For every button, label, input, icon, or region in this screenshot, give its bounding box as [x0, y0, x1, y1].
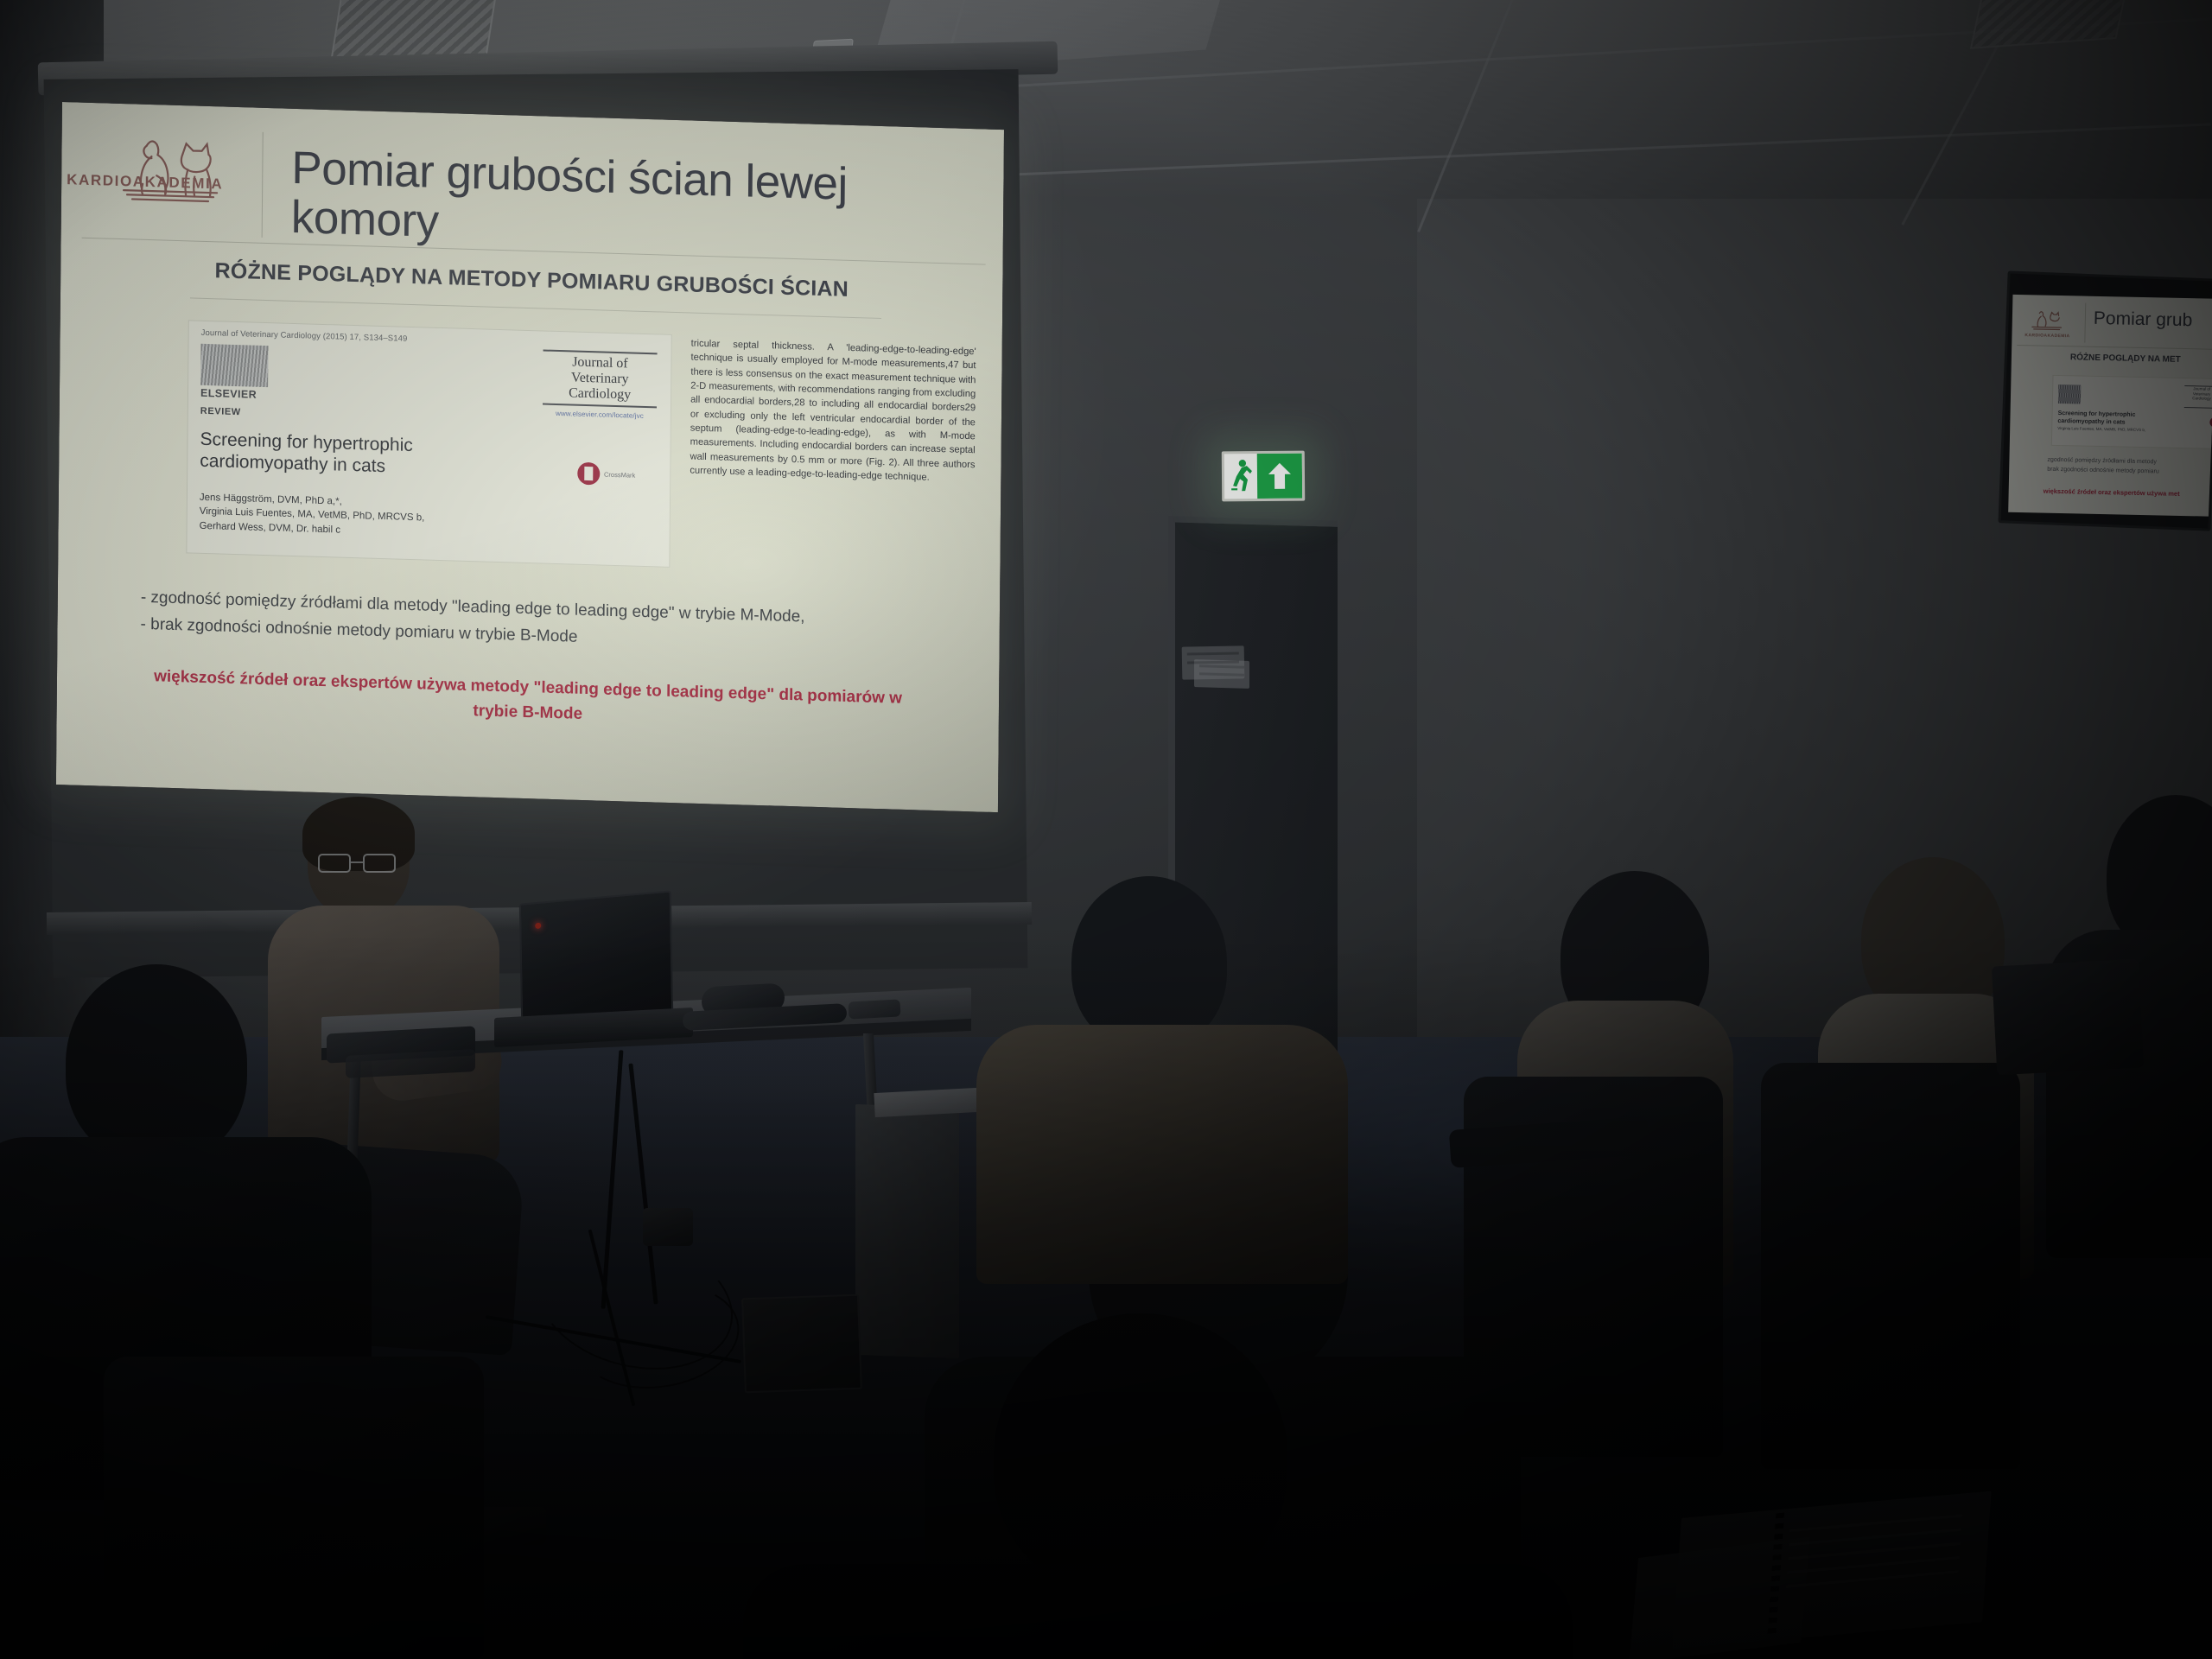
laptop-logo-dot — [535, 923, 541, 930]
secondary-article-title: Screening for hypertrophic cardiomyopath… — [2057, 410, 2170, 428]
slide-bullets: - zgodność pomiędzy źródłami dla metody … — [140, 585, 944, 662]
article-section-label: REVIEW — [200, 406, 241, 417]
projected-slide: KARDIOAKADEMIA Pomiar grubości ścian lew… — [56, 102, 1004, 812]
secondary-conclusion: większość źródeł oraz ekspertów używa me… — [2044, 487, 2212, 499]
audience-shoulders — [743, 1564, 1573, 1659]
journal-url: www.elsevier.com/locate/jvc — [543, 409, 657, 420]
secondary-bullets: zgodność pomiędzy źródłami dla metody br… — [2047, 456, 2212, 478]
crossmark-badge: CrossMark — [577, 462, 635, 486]
exit-pictogram-panel — [1224, 454, 1257, 499]
article-screenshot: Journal of Veterinary Cardiology (2015) … — [186, 320, 671, 568]
thinkpad-laptop[interactable] — [519, 890, 673, 1026]
journal-name-3: Cardiology — [543, 385, 657, 404]
article-authors: Jens Häggström, DVM, PhD a,*, Virginia L… — [200, 491, 528, 543]
slide-header: KARDIOAKADEMIA Pomiar grubości ścian lew… — [61, 102, 1004, 259]
kardioakademia-logo-text: KARDIOAKADEMIA — [67, 171, 205, 193]
slide-conclusion: większość źródeł oraz ekspertów używa me… — [135, 664, 922, 737]
article-body-column: tricular septal thickness. A 'leading-ed… — [690, 337, 976, 486]
slide-subtitle: RÓŻNE POGLĄDY NA METODY POMIARU GRUBOŚCI… — [60, 254, 1002, 307]
secondary-logo-text: KARDIOAKADEMIA — [2018, 333, 2075, 339]
secondary-display: KARDIOAKADEMIA Pomiar grub RÓŻNE POGLĄDY… — [1998, 270, 2212, 531]
wall-notice-plate — [1182, 645, 1245, 679]
elsevier-logo-icon: ELSEVIER — [200, 344, 269, 399]
secondary-logo-icon — [2024, 305, 2069, 335]
emergency-exit-sign — [1222, 451, 1306, 502]
presenter-glasses-icon — [318, 854, 403, 873]
secondary-article-card: Screening for hypertrophic cardiomyopath… — [2051, 375, 2212, 449]
audience-laptop[interactable] — [1992, 959, 2144, 1076]
audience-shoulders — [976, 1025, 1348, 1284]
secondary-title: Pomiar grub — [2094, 308, 2193, 331]
notebook-handwriting — [1785, 1515, 1962, 1599]
audience-member-3 — [1002, 876, 1313, 1239]
article-title: Screening for hypertrophic cardiomyopath… — [200, 429, 511, 481]
subtitle-rule — [190, 297, 881, 319]
crossmark-icon — [577, 462, 600, 486]
arrow-up-icon — [1267, 461, 1293, 491]
audience-head — [1071, 876, 1227, 1049]
audience-head — [66, 964, 247, 1163]
journal-masthead: Journal of Veterinary Cardiology www.els… — [543, 346, 658, 420]
slide-title: Pomiar grubości ścian lewej komory — [291, 143, 975, 263]
desk-remote[interactable] — [849, 999, 901, 1019]
power-strip — [643, 1208, 693, 1246]
secondary-subtitle: RÓŻNE POGLĄDY NA MET — [2070, 353, 2181, 365]
elsevier-label: ELSEVIER — [200, 387, 268, 401]
article-journal-line: Journal of Veterinary Cardiology (2015) … — [201, 328, 408, 344]
notebook-spiral-binding — [1767, 1513, 1784, 1637]
crossmark-label: CrossMark — [604, 470, 635, 479]
secondary-elsevier-icon — [2058, 385, 2081, 404]
secondary-display-slide: KARDIOAKADEMIA Pomiar grub RÓŻNE POGLĄDY… — [2008, 295, 2212, 517]
header-divider — [262, 132, 264, 238]
chair-3[interactable] — [1761, 1063, 2020, 1469]
audience-head — [994, 1313, 1287, 1599]
exit-arrow-panel — [1257, 454, 1303, 499]
running-man-icon — [1230, 458, 1254, 494]
secondary-journal-masthead: Journal of Veterinary Cardiology — [2184, 385, 2212, 409]
chair-1[interactable] — [104, 1357, 484, 1659]
lecture-room-photo: KARDIOAKADEMIA Pomiar grubości ścian lew… — [0, 0, 2212, 1659]
audience-member-7 — [778, 1313, 1538, 1659]
